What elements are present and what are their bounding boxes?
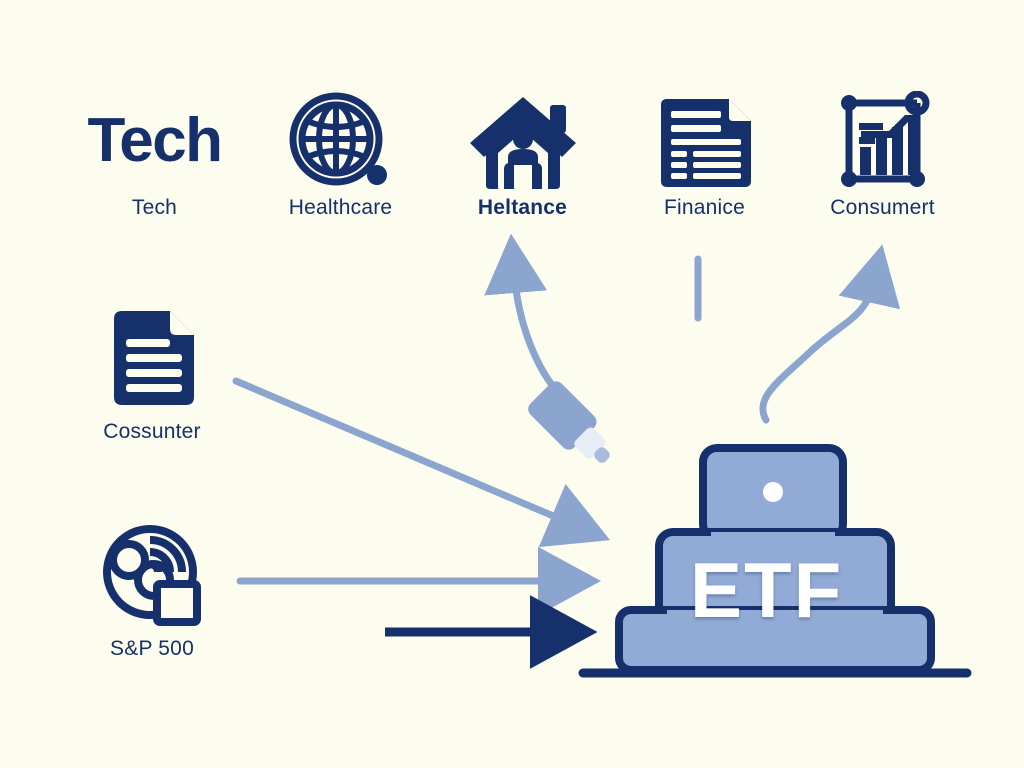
globe-icon [289,96,393,186]
document-lines-icon [651,96,759,186]
node-consumert[interactable]: Consumert [800,96,965,220]
node-label-tech: Tech [132,196,177,220]
node-label-consumert: Consumert [830,196,935,220]
connector-etf-to-heltance [514,272,565,400]
etf-label: ETF [690,545,843,636]
house-person-icon [464,96,582,186]
node-label-finanice: Finanice [664,196,745,220]
connector-cossunter-to-etf [236,381,565,521]
node-finanice[interactable]: Finanice [622,96,787,220]
tech-wordmark-icon: Tech [87,96,221,186]
node-label-cossunter: Cossunter [103,420,201,444]
node-healthcare[interactable]: Healthcare [258,96,423,220]
node-label-healthcare: Healthcare [289,196,393,220]
pie-segments-icon [97,522,207,627]
diagram-canvas: Tech Tech Healthcare [0,0,1024,768]
node-heltance[interactable]: Heltance [440,96,605,220]
node-cossunter[interactable]: Cossunter [72,305,232,444]
connector-etf-to-consumert [763,282,874,420]
node-label-sp500: S&P 500 [110,637,194,661]
node-tech[interactable]: Tech Tech [72,96,237,220]
document-page-icon [100,305,205,410]
node-label-heltance: Heltance [478,196,567,220]
bar-chart-icon [831,96,935,186]
tech-wordmark-text: Tech [87,110,221,172]
node-sp500[interactable]: S&P 500 [72,522,232,661]
